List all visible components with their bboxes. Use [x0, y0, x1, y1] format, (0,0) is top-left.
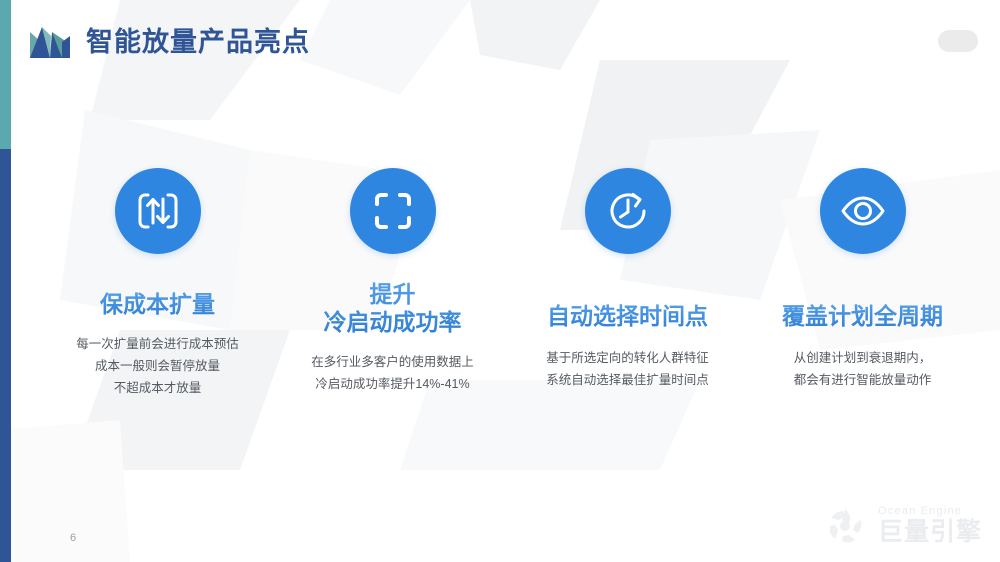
watermark-text: Ocean Engine 巨量引擎 — [878, 506, 982, 545]
edge-accent-teal — [0, 0, 11, 149]
feature-heading: 覆盖计划全周期 — [782, 302, 943, 330]
feature-heading: 自动选择时间点 — [547, 302, 708, 330]
slide-header: 智能放量产品亮点 — [28, 18, 310, 60]
feature-heading: 保成本扩量 — [100, 290, 215, 318]
feature-body: 每一次扩量前会进行成本预估 成本一般则会暂停放量 不超成本才放量 — [76, 334, 239, 400]
feature-icon-badge — [350, 168, 436, 254]
clock-refresh-icon — [602, 185, 654, 237]
watermark: Ocean Engine 巨量引擎 — [822, 502, 982, 548]
page-number: 6 — [70, 532, 76, 544]
corner-pill-shape — [938, 30, 978, 52]
watermark-english: Ocean Engine — [878, 506, 982, 517]
watermark-chinese: 巨量引擎 — [878, 520, 982, 545]
feature-column: 提升 冷启动成功率 在多行业多客户的使用数据上 冷启动成功率提升14%-41% — [275, 168, 510, 396]
edge-accent-navy — [0, 149, 11, 562]
eye-icon — [837, 185, 889, 237]
feature-body: 在多行业多客户的使用数据上 冷启动成功率提升14%-41% — [311, 352, 474, 396]
feature-body: 从创建计划到衰退期内， 都会有进行智能放量动作 — [794, 348, 932, 392]
feature-icon-badge — [585, 168, 671, 254]
feature-body: 基于所选定向的转化人群特征 系统自动选择最佳扩量时间点 — [546, 348, 709, 392]
feature-column: 保成本扩量 每一次扩量前会进行成本预估 成本一般则会暂停放量 不超成本才放量 — [40, 168, 275, 400]
feature-icon-badge — [820, 168, 906, 254]
slide-canvas: 智能放量产品亮点 保成本扩量 每一次扩量前会进行成本预估 成本一般则会暂停放量 … — [0, 0, 1000, 562]
scan-frame-icon — [367, 185, 419, 237]
page-title: 智能放量产品亮点 — [86, 20, 310, 59]
feature-column: 自动选择时间点 基于所选定向的转化人群特征 系统自动选择最佳扩量时间点 — [510, 168, 745, 392]
feature-heading: 提升 冷启动成功率 — [324, 280, 462, 336]
feature-column: 覆盖计划全周期 从创建计划到衰退期内， 都会有进行智能放量动作 — [745, 168, 980, 392]
upload-download-arrows-icon — [132, 185, 184, 237]
feature-columns: 保成本扩量 每一次扩量前会进行成本预估 成本一般则会暂停放量 不超成本才放量 提… — [40, 168, 980, 400]
ocean-engine-logo-icon — [822, 502, 868, 548]
brand-logo-icon — [28, 18, 72, 60]
feature-icon-badge — [115, 168, 201, 254]
